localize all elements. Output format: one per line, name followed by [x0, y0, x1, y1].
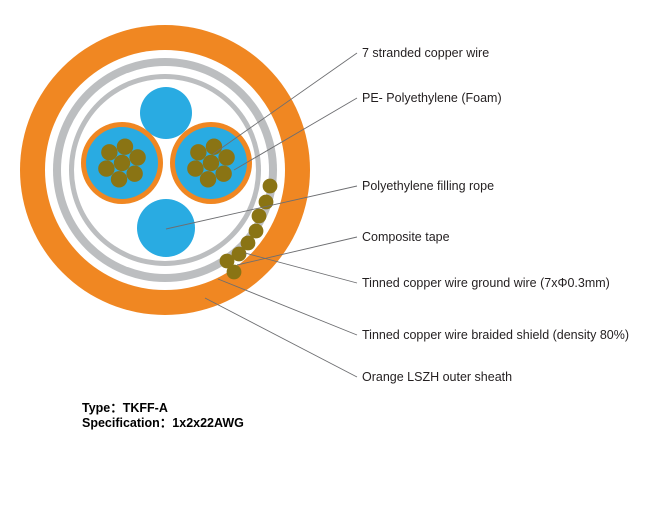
callout-outer-sheath-leader-line	[205, 298, 357, 377]
callout-stranded-copper-wire: 7 stranded copper wire	[362, 47, 489, 61]
callout-composite-tape: Composite tape	[362, 231, 450, 245]
ground-wire-bead-1	[263, 179, 278, 194]
pair-left-strand-2	[129, 149, 145, 165]
callout-filling-rope: Polyethylene filling rope	[362, 180, 494, 194]
pair-right-strand-center	[203, 155, 219, 171]
callout-outer-sheath: Orange LSZH outer sheath	[362, 371, 512, 385]
ground-wire-bead-2	[259, 195, 274, 210]
pair-right-strand-5	[187, 160, 203, 176]
callout-ground-wire: Tinned copper wire ground wire (7xΦ0.3mm…	[362, 277, 610, 291]
callout-braided-shield: Tinned copper wire braided shield (densi…	[362, 329, 629, 343]
pair-left-strand-3	[126, 166, 142, 182]
pair-left-strand-6	[101, 144, 117, 160]
ground-wire-bead-3	[252, 209, 267, 224]
pair-left-strand-center	[114, 155, 130, 171]
pair-left-strand-4	[111, 171, 127, 187]
pair-right-strand-2	[218, 149, 234, 165]
pair-right-strand-1	[206, 139, 222, 155]
cable-layers-group	[20, 25, 310, 315]
specification-line: Specification：1x2x22AWG	[82, 416, 244, 431]
specification-block: Type：TKFF-A Specification：1x2x22AWG	[82, 401, 244, 432]
pair-left-strand-1	[117, 139, 133, 155]
cable-cross-section-diagram	[0, 0, 670, 511]
pair-right-strand-6	[190, 144, 206, 160]
type-line: Type：TKFF-A	[82, 401, 244, 416]
callout-braided-shield-leader-line	[218, 279, 357, 335]
callout-pe-foam: PE- Polyethylene (Foam)	[362, 92, 502, 106]
diagram-stage: 7 stranded copper wirePE- Polyethylene (…	[0, 0, 670, 511]
pair-right-strand-4	[200, 171, 216, 187]
pair-left-strand-5	[98, 160, 114, 176]
pair-right-strand-3	[215, 166, 231, 182]
ground-wire-bead-8	[227, 265, 242, 280]
filling-rope-bottom	[137, 199, 195, 257]
